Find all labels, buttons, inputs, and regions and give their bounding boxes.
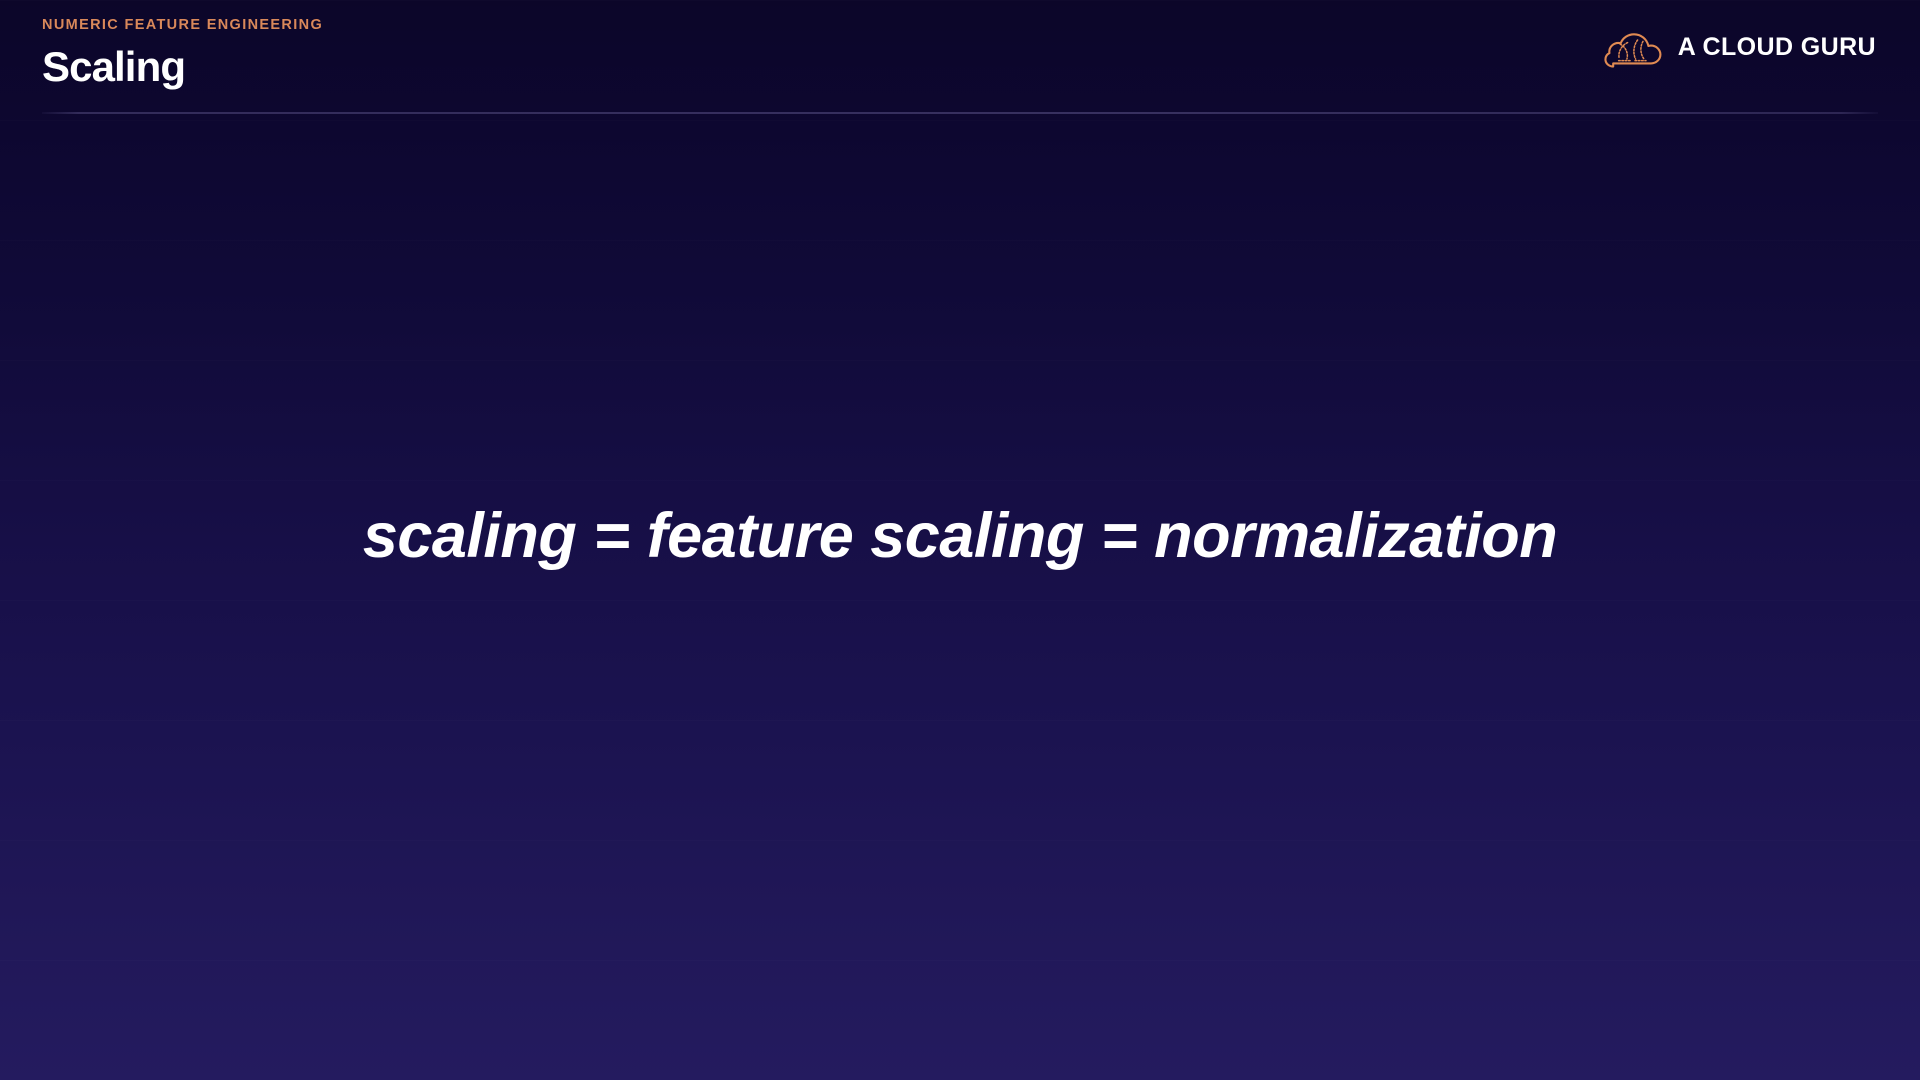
slide-canvas: NUMERIC FEATURE ENGINEERING Scaling A CL… (0, 0, 1920, 1080)
cloud-icon (1599, 26, 1665, 68)
slide-body: scaling = feature scaling = normalizatio… (0, 116, 1920, 1080)
slide-header: NUMERIC FEATURE ENGINEERING Scaling A CL… (0, 0, 1920, 116)
headline-equation: scaling = feature scaling = normalizatio… (0, 505, 1920, 568)
header-title-block: NUMERIC FEATURE ENGINEERING Scaling (42, 18, 323, 88)
brand-lockup: A CLOUD GURU (1599, 26, 1876, 68)
page-title: Scaling (42, 46, 323, 88)
header-divider (42, 112, 1878, 114)
section-eyebrow: NUMERIC FEATURE ENGINEERING (42, 18, 323, 33)
brand-name: A CLOUD GURU (1678, 35, 1876, 60)
